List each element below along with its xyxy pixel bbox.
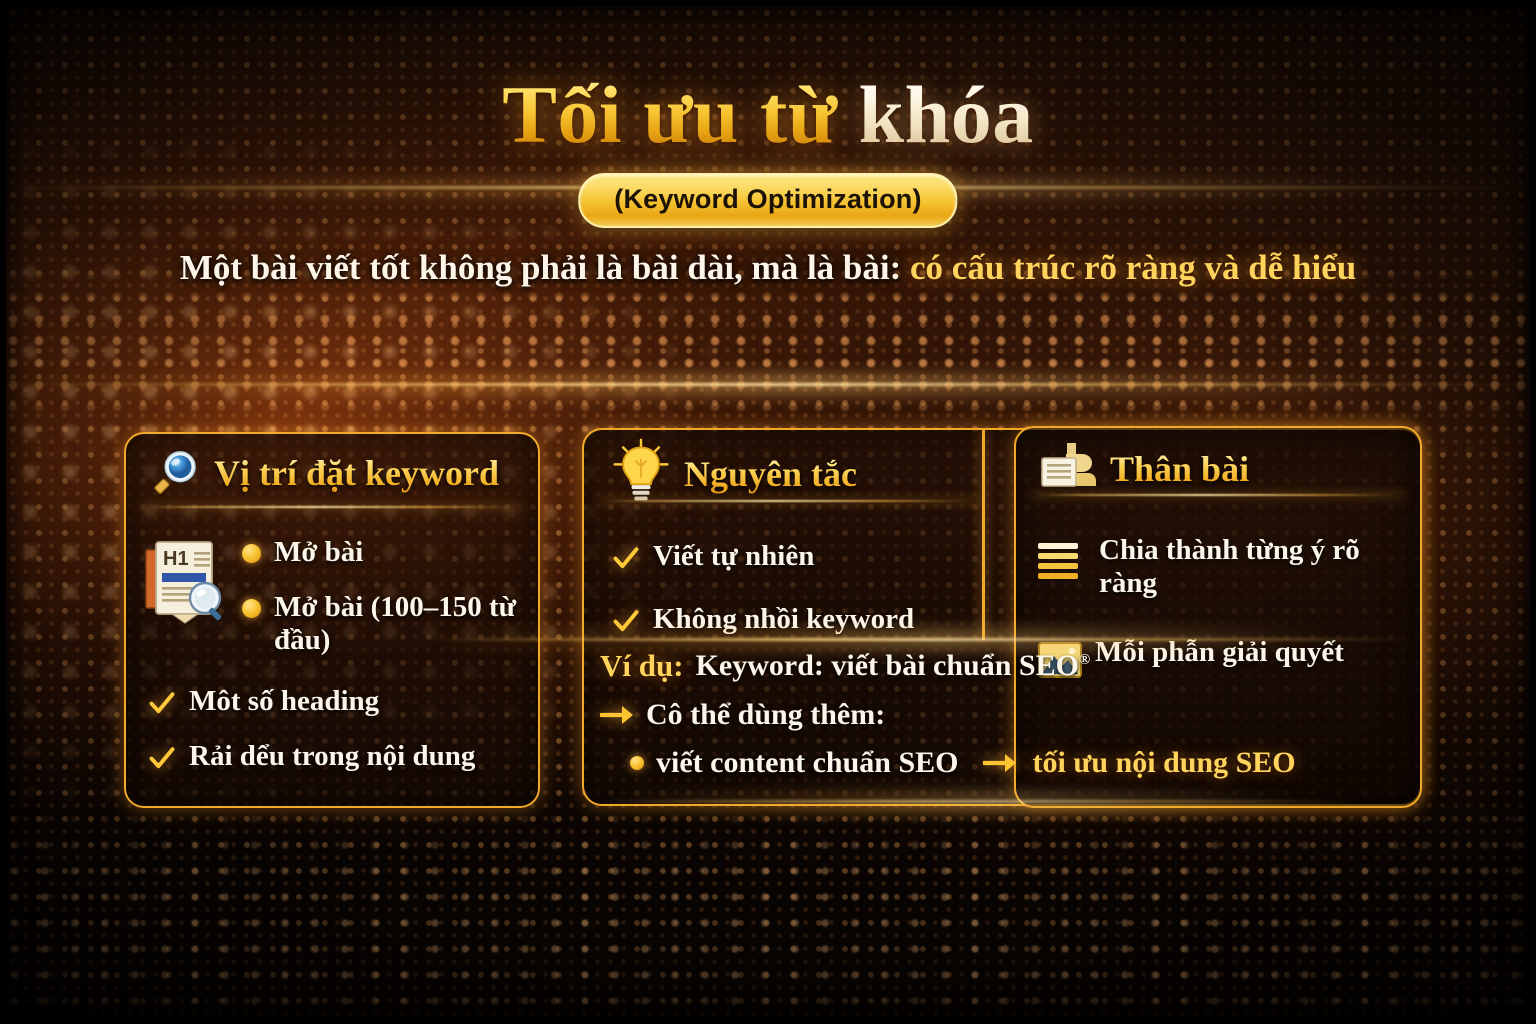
list-item-label: Môt số heading <box>189 685 379 718</box>
bullet-dot-icon <box>242 599 261 618</box>
page-title: Tối ưu từ khóa <box>0 74 1536 156</box>
card-header-divider <box>140 506 524 508</box>
check-icon <box>612 544 640 572</box>
bullet-dot-icon <box>630 756 644 770</box>
example-keyword-text: Keyword: viết bài chuẩn SEO <box>696 649 1079 682</box>
list-item-label: Viết tự nhiên <box>653 540 814 573</box>
list-item: Chia thành từng ý rõ ràng <box>1038 534 1404 600</box>
infographic-canvas: Tối ưu từ khóa (Keyword Optimization) Mộ… <box>0 0 1536 1024</box>
lines-icon <box>1038 541 1086 581</box>
check-icon <box>148 689 176 717</box>
list-item-label: Không nhồi keyword <box>653 603 914 636</box>
svg-text:H1: H1 <box>163 548 189 570</box>
list-item-label: Mở bài <box>274 536 363 569</box>
arrow-right-icon <box>983 750 1017 776</box>
article-icon <box>1040 442 1098 496</box>
example-keyword: Keyword: viết bài chuẩn SEO® <box>696 649 1091 683</box>
check-icon <box>612 607 640 635</box>
card-header-divider <box>598 500 980 502</box>
list-item: Môt số heading <box>148 685 522 718</box>
list-item: Mở bài <box>242 536 522 569</box>
h1-document-icon: H1 <box>142 532 234 632</box>
bullet-dot-icon <box>242 544 261 563</box>
registered-mark: ® <box>1079 652 1090 668</box>
card-body: H1 Mở bài <box>126 510 538 773</box>
lightbulb-icon <box>610 438 672 504</box>
example-option-2: tối ưu nội dung SEO <box>1033 746 1296 780</box>
tagline-highlight: có cấu trúc rõ ràng và dễ hiểu <box>910 248 1356 287</box>
example-options-line: viết content chuẩn SEO tối ưu nội dung S… <box>630 746 1430 780</box>
example-label: Ví dụ: <box>600 648 684 684</box>
tagline: Một bài viết tốt không phải là bài dài, … <box>0 248 1536 288</box>
card-title: Nguyên tắc <box>684 453 857 495</box>
example-more-label: Cô thể dùng thêm: <box>646 698 885 732</box>
list-item-label: Chia thành từng ý rõ ràng <box>1099 534 1404 600</box>
subtitle-badge: (Keyword Optimization) <box>578 173 957 228</box>
tagline-plain: Một bài viết tốt không phải là bài dài, … <box>180 248 901 287</box>
magnifier-icon <box>152 448 202 498</box>
list-item: Rải dểu trong nội dung <box>148 740 522 773</box>
card-inner-divider <box>982 428 985 640</box>
card-header-divider <box>1030 494 1406 496</box>
list-item-label: Mở bài (100–150 từ đầu) <box>274 591 522 657</box>
card-header: Thân bài <box>1016 428 1420 508</box>
arrow-right-icon <box>600 702 634 728</box>
card-vi-tri-dat-keyword[interactable]: Vị trí đặt keyword H1 <box>124 432 540 808</box>
list-item-label: Rải dểu trong nội dung <box>189 740 475 773</box>
page-title-gold: Tối ưu từ <box>502 69 837 160</box>
list-item: Mở bài (100–150 từ đầu) <box>242 591 522 657</box>
example-block: Ví dụ: Keyword: viết bài chuẩn SEO® Cô t… <box>600 648 1430 794</box>
example-option-1: viết content chuẩn SEO <box>656 746 959 780</box>
card-header: Vị trí đặt keyword <box>126 434 538 510</box>
example-more-line: Cô thể dùng thêm: <box>600 698 1430 732</box>
card-title: Vị trí đặt keyword <box>214 452 499 494</box>
check-icon <box>148 744 176 772</box>
example-keyword-line: Ví dụ: Keyword: viết bài chuẩn SEO® <box>600 648 1430 684</box>
page-title-cream: khóa <box>859 69 1034 160</box>
card-title: Thân bài <box>1110 448 1249 490</box>
